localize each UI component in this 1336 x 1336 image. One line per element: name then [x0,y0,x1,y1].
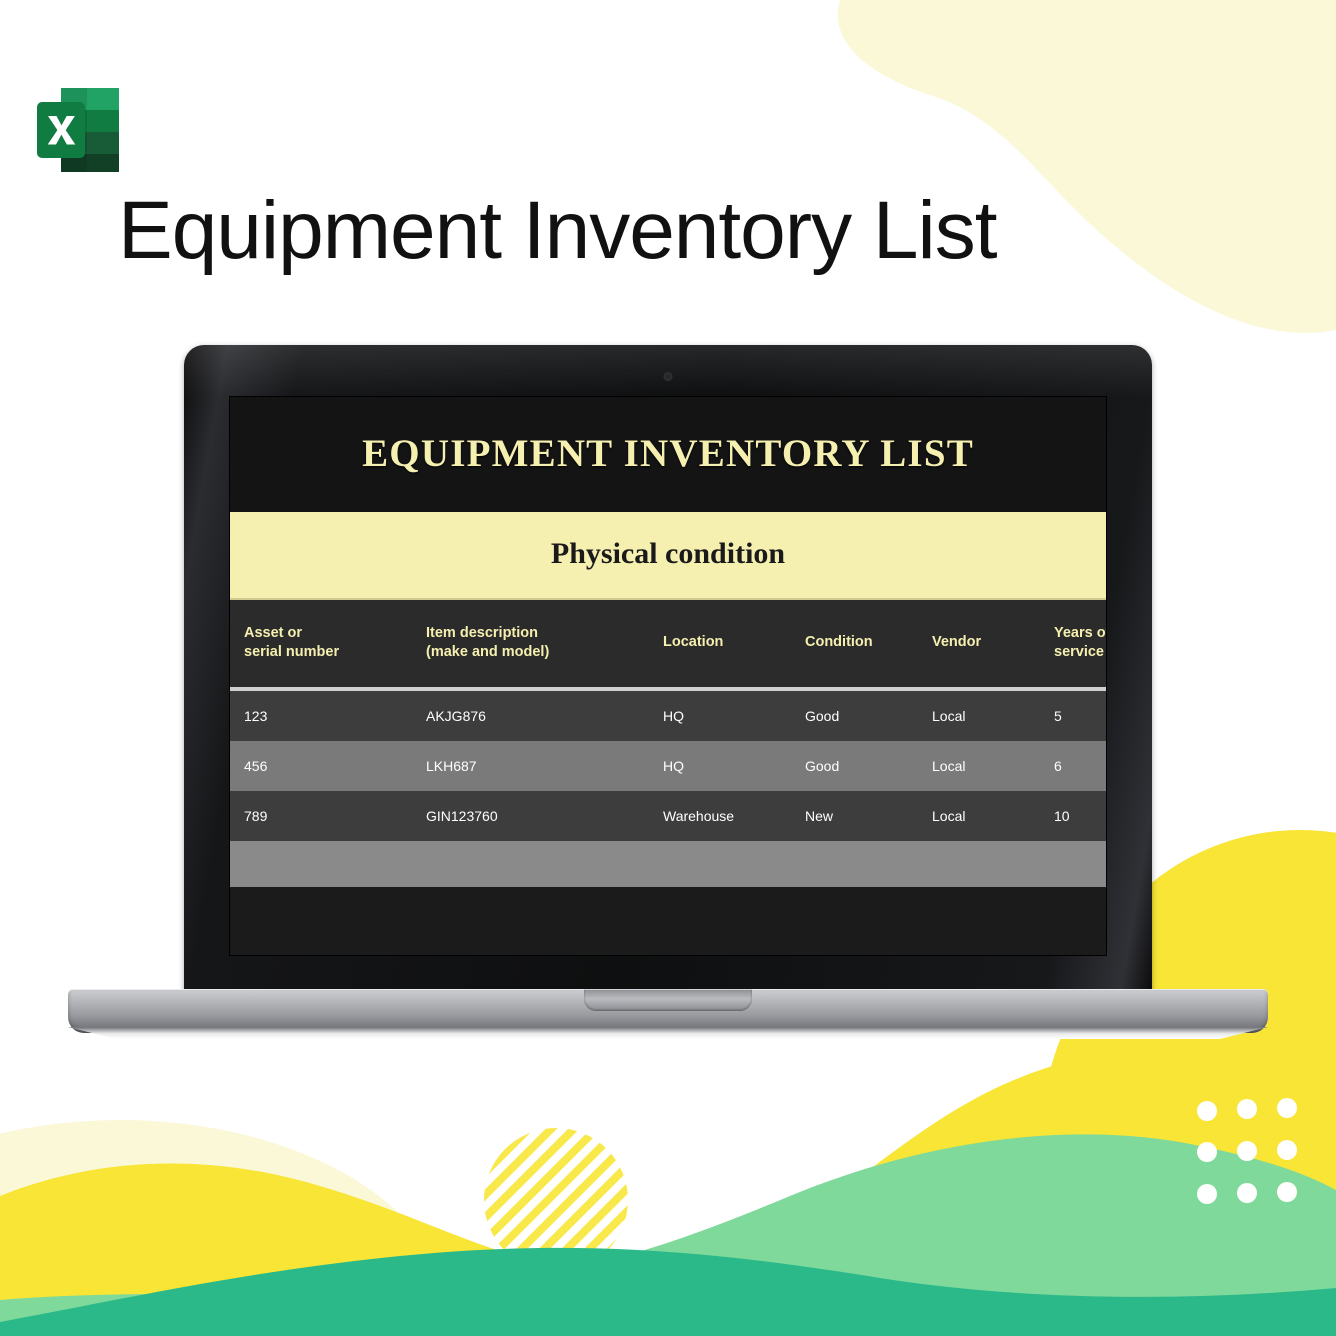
table-row-empty[interactable] [230,841,1106,887]
cell-years-of-service[interactable]: 10 [1048,791,1106,841]
header-line-2: (make and model) [426,644,549,660]
wave-light-green [0,1134,1336,1336]
header-line-2: service left [1054,644,1106,660]
striped-circle-decoration [484,1128,628,1272]
page-title: Equipment Inventory List [118,186,996,276]
column-header-asset[interactable]: Asset or serial number [230,600,420,689]
header-line-1: Years of [1054,625,1106,641]
cell-asset[interactable]: 456 [230,741,420,791]
cell-years-of-service[interactable]: 6 [1048,741,1106,791]
blob-bottom-left-soft [0,1120,450,1336]
cell-years-of-service[interactable]: 5 [1048,689,1106,741]
lid-highlight [184,345,1152,397]
cell-condition[interactable]: Good [799,741,926,791]
column-header-vendor[interactable]: Vendor [926,600,1048,689]
cell-condition[interactable]: New [799,791,926,841]
cell-empty[interactable] [420,841,657,887]
blob-top-right [838,0,1336,333]
cell-item-description[interactable]: GIN123760 [420,791,657,841]
blob-bottom-left [0,1164,470,1336]
cell-empty[interactable] [657,841,799,887]
watermark: FREEPIK [1311,606,1336,689]
excel-logo-icon [28,80,128,180]
table-row[interactable]: 789 GIN123760 Warehouse New Local 10 [230,791,1106,841]
cell-location[interactable]: Warehouse [657,791,799,841]
page-root: FREEPIK FREEPIK FREEPIK FREEPIK Equipmen… [0,0,1336,1336]
cell-item-description[interactable]: AKJG876 [420,689,657,741]
column-header-years-of-service[interactable]: Years of service left [1048,600,1106,689]
column-header-item-description[interactable]: Item description (make and model) [420,600,657,689]
column-header-condition[interactable]: Condition [799,600,926,689]
spreadsheet-title: EQUIPMENT INVENTORY LIST [230,397,1106,512]
spreadsheet: EQUIPMENT INVENTORY LIST Physical condit… [230,397,1106,955]
cell-asset[interactable]: 789 [230,791,420,841]
header-line-2: serial number [244,644,339,660]
blob-top-right-circle [1105,0,1336,245]
spreadsheet-subtitle: Physical condition [230,512,1106,600]
cell-item-description[interactable]: LKH687 [420,741,657,791]
header-line-1: Location [663,634,723,650]
cell-empty[interactable] [926,841,1048,887]
header-line-1: Condition [805,634,873,650]
laptop-mockup: EQUIPMENT INVENTORY LIST Physical condit… [68,345,1268,1045]
table-row[interactable]: 123 AKJG876 HQ Good Local 5 [230,689,1106,741]
cell-condition[interactable]: Good [799,689,926,741]
webcam-icon [664,372,673,381]
inventory-table: Asset or serial number Item description … [230,600,1106,887]
header-line-1: Asset or [244,625,302,641]
cell-empty[interactable] [230,841,420,887]
cell-empty[interactable] [799,841,926,887]
cell-asset[interactable]: 123 [230,689,420,741]
laptop-screen: EQUIPMENT INVENTORY LIST Physical condit… [230,397,1106,955]
laptop-base-edge [68,989,1268,1033]
cell-location[interactable]: HQ [657,689,799,741]
header-line-1: Item description [426,625,538,641]
laptop-lid: EQUIPMENT INVENTORY LIST Physical condit… [184,345,1152,995]
dot-grid-decoration [1197,1098,1297,1204]
wave-teal-green [0,1248,1336,1336]
wave-yellow [0,1042,1336,1336]
table-header-row: Asset or serial number Item description … [230,600,1106,689]
column-header-location[interactable]: Location [657,600,799,689]
cell-location[interactable]: HQ [657,741,799,791]
cell-vendor[interactable]: Local [926,689,1048,741]
cell-empty[interactable] [1048,841,1106,887]
cell-vendor[interactable]: Local [926,741,1048,791]
header-line-1: Vendor [932,634,981,650]
cell-vendor[interactable]: Local [926,791,1048,841]
laptop-base-lip [68,1027,1268,1039]
table-row[interactable]: 456 LKH687 HQ Good Local 6 [230,741,1106,791]
